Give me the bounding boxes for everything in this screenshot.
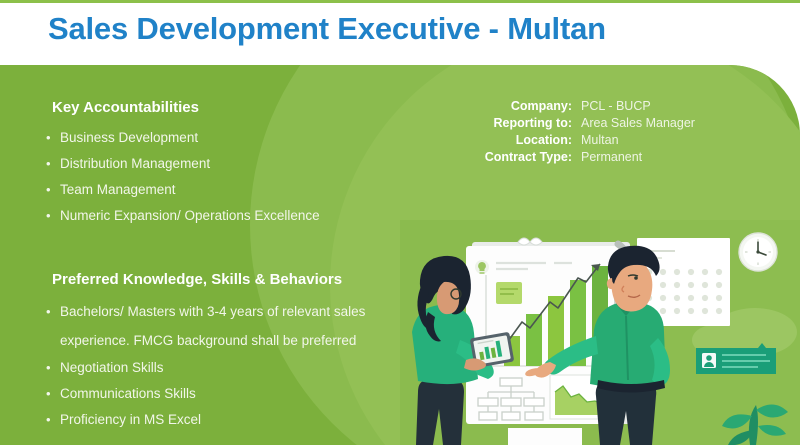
bottom-card	[508, 428, 582, 445]
list-item: Distribution Management	[46, 151, 416, 177]
business-presentation-illustration	[400, 220, 800, 445]
meta-value-reporting-to: Area Sales Manager	[581, 115, 740, 132]
list-item: Team Management	[46, 177, 416, 203]
accountabilities-list: Business Development Distribution Manage…	[46, 125, 416, 229]
lightbulb-icon	[475, 260, 489, 274]
meta-label-reporting-to: Reporting to:	[440, 115, 572, 132]
skills-list: Bachelors/ Masters with 3-4 years of rel…	[46, 297, 416, 433]
skills-heading: Preferred Knowledge, Skills & Behaviors	[52, 271, 342, 288]
content-panel: Key Accountabilities Business Developmen…	[0, 65, 800, 445]
text-column: Key Accountabilities Business Developmen…	[0, 65, 430, 445]
meta-value-contract-type: Permanent	[581, 149, 740, 166]
clock-icon	[739, 233, 777, 271]
meta-label-company: Company:	[440, 98, 572, 115]
job-meta-block: Company: PCL - BUCP Reporting to: Area S…	[440, 98, 740, 166]
page-title: Sales Development Executive - Multan	[48, 11, 606, 47]
meta-value-company: PCL - BUCP	[581, 98, 740, 115]
list-item: Proficiency in MS Excel	[46, 407, 416, 433]
header-bar: Sales Development Executive - Multan	[0, 3, 800, 65]
list-item: Business Development	[46, 125, 416, 151]
list-item: Negotiation Skills	[46, 355, 416, 381]
meta-label-contract-type: Contract Type:	[440, 149, 572, 166]
job-posting-graphic: Sales Development Executive - Multan Key…	[0, 0, 800, 445]
accountabilities-heading: Key Accountabilities	[52, 99, 199, 116]
meta-value-location: Multan	[581, 132, 740, 149]
list-item: Numeric Expansion/ Operations Excellence	[46, 203, 416, 229]
list-item: Communications Skills	[46, 381, 416, 407]
list-item: Bachelors/ Masters with 3-4 years of rel…	[46, 297, 390, 355]
meta-label-location: Location:	[440, 132, 572, 149]
